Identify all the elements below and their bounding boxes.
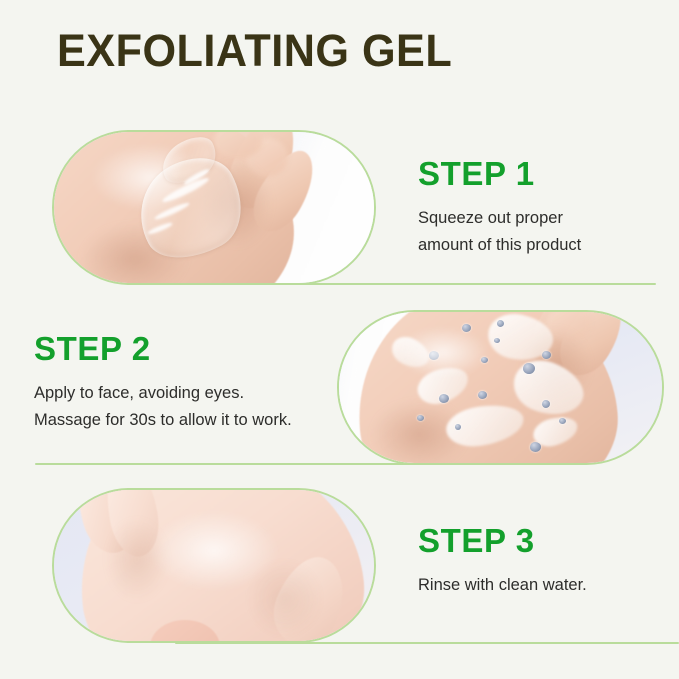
step-2-line-1: Apply to face, avoiding eyes.	[34, 380, 292, 407]
step-1-heading: STEP 1	[418, 155, 581, 193]
step-1-description: Squeeze out proper amount of this produc…	[418, 205, 581, 258]
exfoliating-gel-instructions: EXFOLIATING GEL STEP 1	[0, 0, 679, 679]
step-1-image-card	[52, 130, 376, 285]
hand-with-clear-gel-photo	[54, 132, 374, 283]
step-2-description: Apply to face, avoiding eyes. Massage fo…	[34, 380, 292, 433]
step-1-line-2: amount of this product	[418, 232, 581, 259]
step-1-text-block: STEP 1 Squeeze out proper amount of this…	[418, 155, 581, 258]
step-3-text-block: STEP 3 Rinse with clean water.	[418, 522, 587, 599]
step-3-image-card	[52, 488, 376, 643]
step-2-heading: STEP 2	[34, 330, 292, 368]
step-3-line-1: Rinse with clean water.	[418, 572, 587, 599]
step-3-description: Rinse with clean water.	[418, 572, 587, 599]
hand-with-gel-flakes-photo	[339, 312, 662, 463]
step-2-image-card	[337, 310, 664, 465]
step-3-heading: STEP 3	[418, 522, 587, 560]
step-1-line-1: Squeeze out proper	[418, 205, 581, 232]
page-title: EXFOLIATING GEL	[57, 25, 452, 77]
step-2-line-2: Massage for 30s to allow it to work.	[34, 407, 292, 434]
clean-hand-photo	[54, 490, 374, 641]
step-2-text-block: STEP 2 Apply to face, avoiding eyes. Mas…	[34, 330, 292, 433]
